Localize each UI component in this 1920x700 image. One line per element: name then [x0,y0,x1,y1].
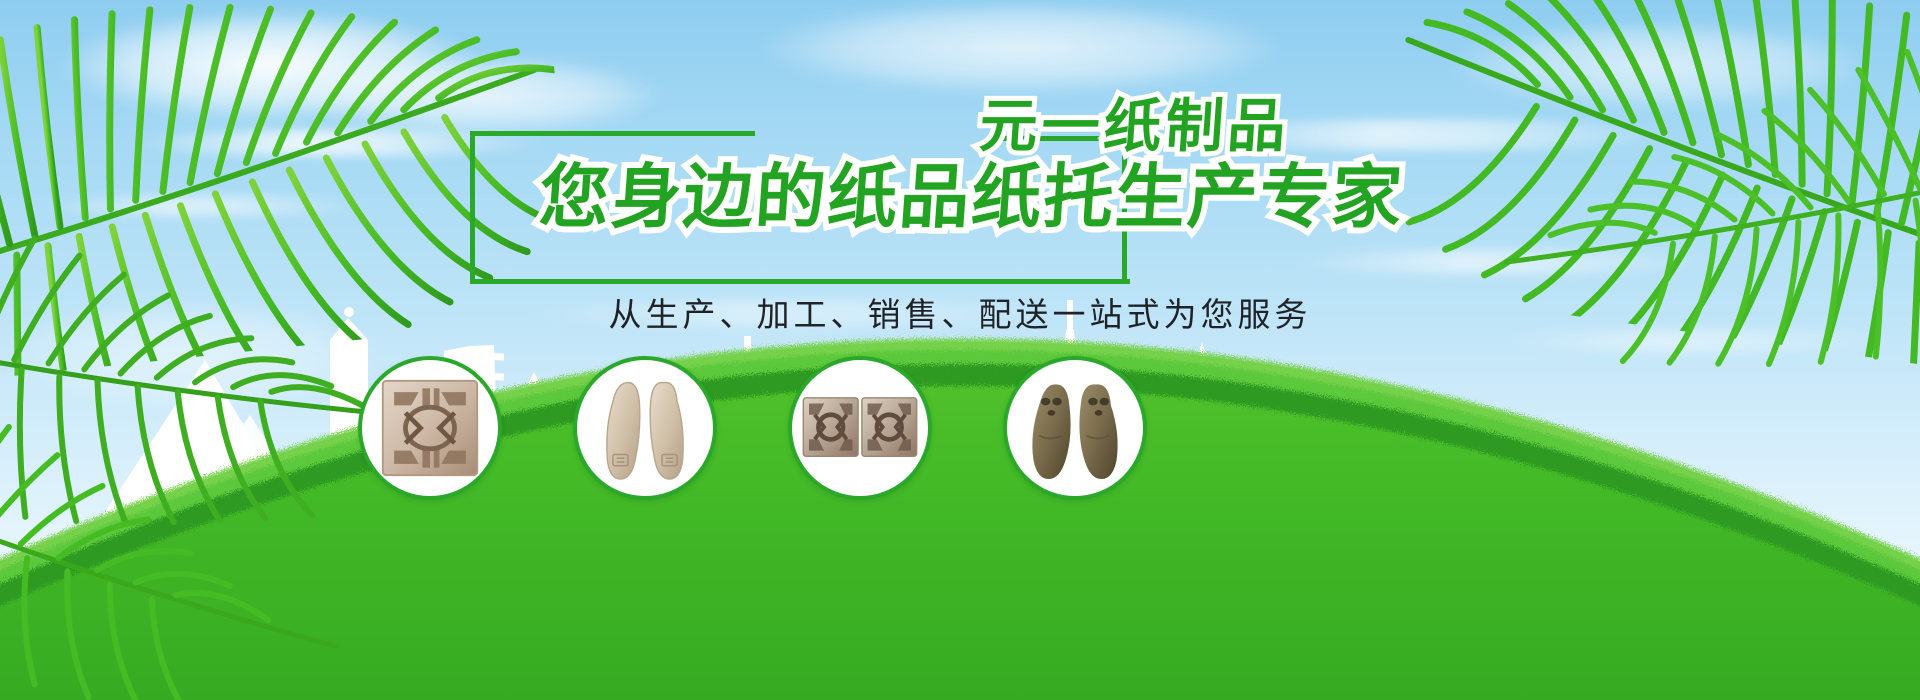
paper-pulp-tray-image [362,360,498,496]
product-circle-insoles[interactable] [573,356,717,500]
product-circle-packaging[interactable] [788,356,932,500]
product-circle-paper-tray[interactable] [358,356,502,500]
paper-pulp-shoe-trees-image [1007,360,1143,496]
product-circle-group [0,0,1920,700]
paper-pulp-insoles-image [577,360,713,496]
product-circle-shoe-trees[interactable] [1003,356,1147,500]
paper-pulp-packaging-image [792,360,928,496]
banner-root: 元一纸制品 您身边的纸品纸托生产专家 从生产、加工、销售、配送一站式为您服务 [0,0,1920,700]
